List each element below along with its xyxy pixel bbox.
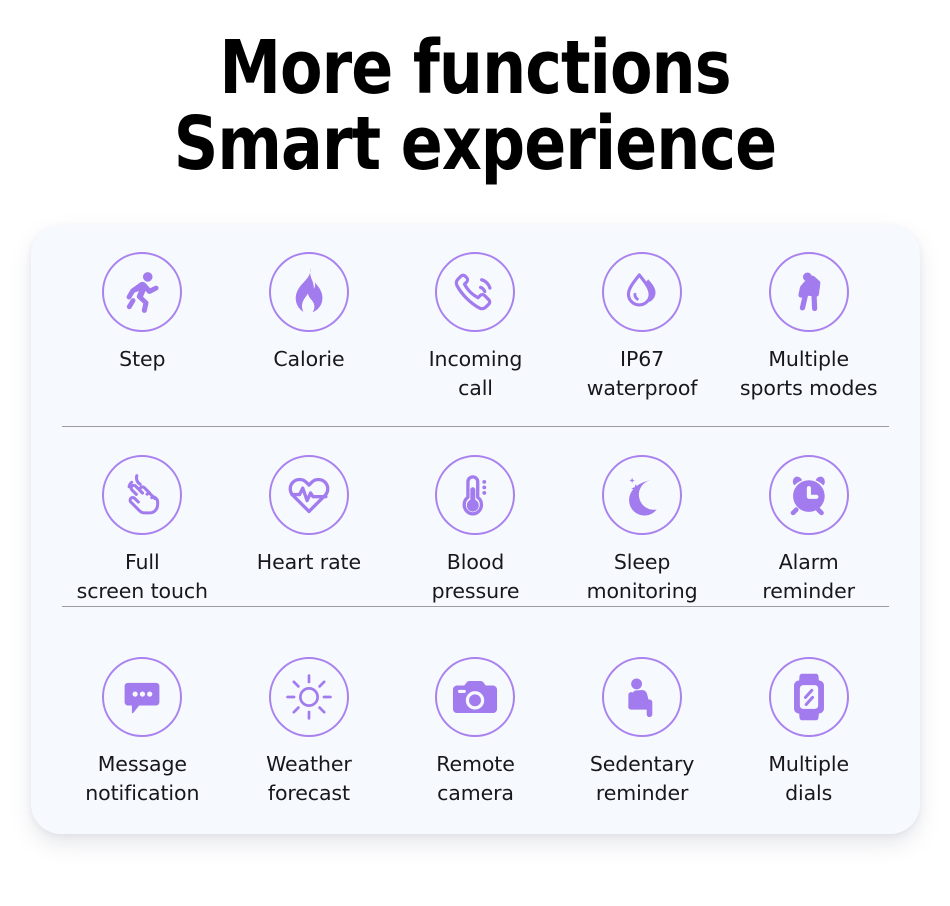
heart-pulse-icon bbox=[269, 455, 349, 535]
feature-item-blood-pressure[interactable]: Blood pressure bbox=[392, 455, 559, 606]
running-person-icon bbox=[102, 252, 182, 332]
feature-row-1: Step Calorie bbox=[31, 225, 920, 429]
feature-label: Full screen touch bbox=[77, 548, 208, 606]
feature-label: Blood pressure bbox=[432, 548, 520, 606]
feature-label: Multiple dials bbox=[768, 750, 849, 808]
alarm-clock-icon bbox=[769, 455, 849, 535]
feature-item-remote-camera[interactable]: Remote camera bbox=[392, 657, 559, 808]
incoming-call-icon bbox=[435, 252, 515, 332]
stretching-person-icon bbox=[769, 252, 849, 332]
feature-label: Multiple sports modes bbox=[740, 345, 878, 403]
water-drop-icon bbox=[602, 252, 682, 332]
page-title-line-2: Smart experience bbox=[33, 106, 917, 182]
feature-label: Remote camera bbox=[436, 750, 515, 808]
feature-item-calorie[interactable]: Calorie bbox=[226, 252, 393, 374]
feature-poster: More functions Smart experience bbox=[0, 0, 950, 906]
feature-item-sleep-monitoring[interactable]: Sleep monitoring bbox=[559, 455, 726, 606]
feature-label: Incoming call bbox=[429, 345, 523, 403]
feature-card: Step Calorie bbox=[31, 225, 920, 834]
feature-label: Sleep monitoring bbox=[587, 548, 698, 606]
seated-person-icon bbox=[602, 657, 682, 737]
feature-label: Step bbox=[119, 345, 165, 374]
feature-item-heart-rate[interactable]: Heart rate bbox=[226, 455, 393, 577]
touch-hand-icon bbox=[102, 455, 182, 535]
flame-icon bbox=[269, 252, 349, 332]
feature-label: Message notification bbox=[85, 750, 199, 808]
smartwatch-icon bbox=[769, 657, 849, 737]
feature-item-multiple-dials[interactable]: Multiple dials bbox=[725, 657, 892, 808]
feature-row-3: Message notification Weather forecast bbox=[31, 631, 920, 834]
feature-item-sports-modes[interactable]: Multiple sports modes bbox=[725, 252, 892, 403]
feature-row-2: Full screen touch Heart rate bbox=[31, 429, 920, 632]
feature-item-weather-forecast[interactable]: Weather forecast bbox=[226, 657, 393, 808]
feature-label: Alarm reminder bbox=[762, 548, 855, 606]
feature-label: Sedentary reminder bbox=[590, 750, 695, 808]
page-title: More functions Smart experience bbox=[33, 30, 917, 182]
thermometer-icon bbox=[435, 455, 515, 535]
feature-item-full-screen-touch[interactable]: Full screen touch bbox=[59, 455, 226, 606]
chat-bubble-icon bbox=[102, 657, 182, 737]
row-divider-1 bbox=[62, 426, 889, 427]
feature-item-waterproof[interactable]: IP67 waterproof bbox=[559, 252, 726, 403]
feature-label: IP67 waterproof bbox=[587, 345, 698, 403]
camera-icon bbox=[435, 657, 515, 737]
feature-label: Weather forecast bbox=[266, 750, 352, 808]
page-title-line-1: More functions bbox=[219, 25, 730, 111]
feature-item-step[interactable]: Step bbox=[59, 252, 226, 374]
crescent-moon-stars-icon bbox=[602, 455, 682, 535]
feature-label: Heart rate bbox=[257, 548, 361, 577]
feature-label: Calorie bbox=[273, 345, 344, 374]
feature-item-message-notification[interactable]: Message notification bbox=[59, 657, 226, 808]
row-divider-2 bbox=[62, 606, 889, 607]
sun-icon bbox=[269, 657, 349, 737]
feature-item-sedentary-reminder[interactable]: Sedentary reminder bbox=[559, 657, 726, 808]
feature-item-incoming-call[interactable]: Incoming call bbox=[392, 252, 559, 403]
feature-item-alarm-reminder[interactable]: Alarm reminder bbox=[725, 455, 892, 606]
